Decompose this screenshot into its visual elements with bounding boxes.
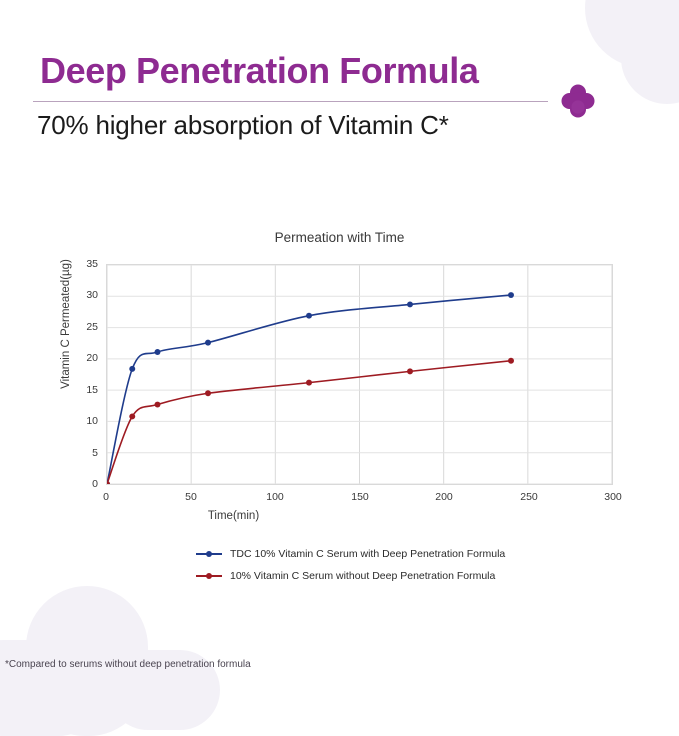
legend-item-blue[interactable]: TDC 10% Vitamin C Serum with Deep Penetr… [196,543,505,565]
data-point [306,380,312,386]
footnote: *Compared to serums without deep penetra… [5,659,251,670]
permeation-chart: Permeation with Time Vitamin C Permeated… [0,200,679,600]
y-tick-label: 5 [68,447,98,459]
y-tick-label: 0 [68,478,98,490]
x-tick-label: 50 [171,491,211,503]
legend-item-red[interactable]: 10% Vitamin C Serum without Deep Penetra… [196,565,505,587]
y-tick-label: 25 [68,321,98,333]
data-point [407,301,413,307]
x-tick-label: 200 [424,491,464,503]
x-tick-label: 250 [509,491,549,503]
page-subtitle: 70% higher absorption of Vitamin C* [37,110,449,141]
data-point [155,402,161,408]
y-tick-label: 10 [68,415,98,427]
data-point [306,313,312,319]
plot-svg [107,265,612,484]
data-point [155,349,161,355]
plot-area [106,264,613,485]
series-markers [107,292,514,484]
data-point [107,481,110,484]
data-point [205,340,211,346]
x-tick-label: 100 [255,491,295,503]
decor-blob-top-right-1 [585,0,679,68]
chart-title: Permeation with Time [0,230,679,245]
four-petal-cross-icon [560,83,596,119]
series-line [107,295,511,484]
y-tick-label: 20 [68,352,98,364]
x-axis-title: Time(min) [0,510,573,522]
legend-swatch-blue [196,548,222,560]
x-tick-label: 150 [340,491,380,503]
legend-swatch-red [196,570,222,582]
y-tick-label: 15 [68,384,98,396]
data-point [205,390,211,396]
decor-blob-top-right-2 [621,12,679,104]
x-tick-label: 300 [593,491,633,503]
chart-legend: TDC 10% Vitamin C Serum with Deep Penetr… [196,543,505,587]
grid-lines [107,265,612,484]
page-title: Deep Penetration Formula [40,50,478,92]
y-tick-label: 30 [68,289,98,301]
decor-blob-bottom-left-2 [0,640,106,736]
legend-label: TDC 10% Vitamin C Serum with Deep Penetr… [230,548,505,560]
data-point [129,413,135,419]
data-point [508,358,514,364]
y-tick-label: 35 [68,258,98,270]
title-divider [33,101,548,102]
series-line [107,361,511,484]
data-point [129,366,135,372]
data-point [407,368,413,374]
legend-label: 10% Vitamin C Serum without Deep Penetra… [230,570,495,582]
x-tick-label: 0 [86,491,126,503]
data-point [508,292,514,298]
series-lines [107,295,511,484]
